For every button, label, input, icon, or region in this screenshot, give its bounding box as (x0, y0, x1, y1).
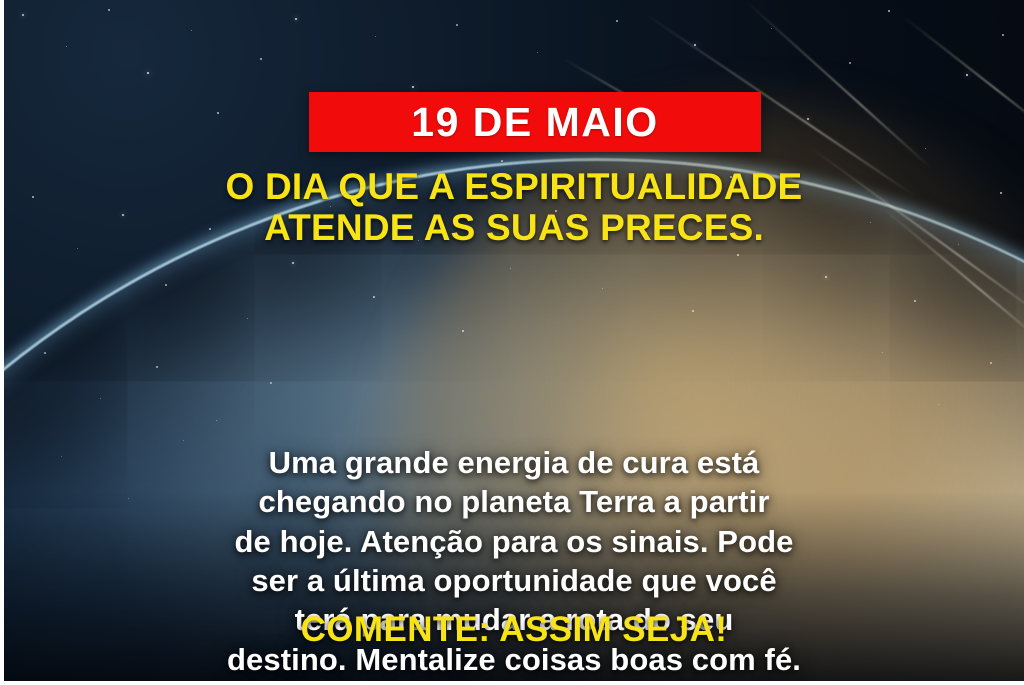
date-badge: 19 DE MAIO (309, 92, 761, 152)
content-layer: 19 DE MAIO O DIA QUE A ESPIRITUALIDADE A… (4, 0, 1024, 681)
headline-line-2: ATENDE AS SUAS PRECES. (4, 207, 1024, 248)
body-line-3: de hoje. Atenção para os sinais. Pode (4, 522, 1024, 561)
body-line-2: chegando no planeta Terra a partir (4, 482, 1024, 521)
headline-line-1: O DIA QUE A ESPIRITUALIDADE (4, 166, 1024, 207)
poster-canvas: 19 DE MAIO O DIA QUE A ESPIRITUALIDADE A… (0, 0, 1024, 685)
date-badge-label: 19 DE MAIO (411, 102, 658, 143)
body-line-1: Uma grande energia de cura está (4, 443, 1024, 482)
body-line-4: ser a última oportunidade que você (4, 561, 1024, 600)
call-to-action-text: COMENTE: ASSIM SEJA! (4, 612, 1024, 647)
headline: O DIA QUE A ESPIRITUALIDADE ATENDE AS SU… (4, 166, 1024, 249)
